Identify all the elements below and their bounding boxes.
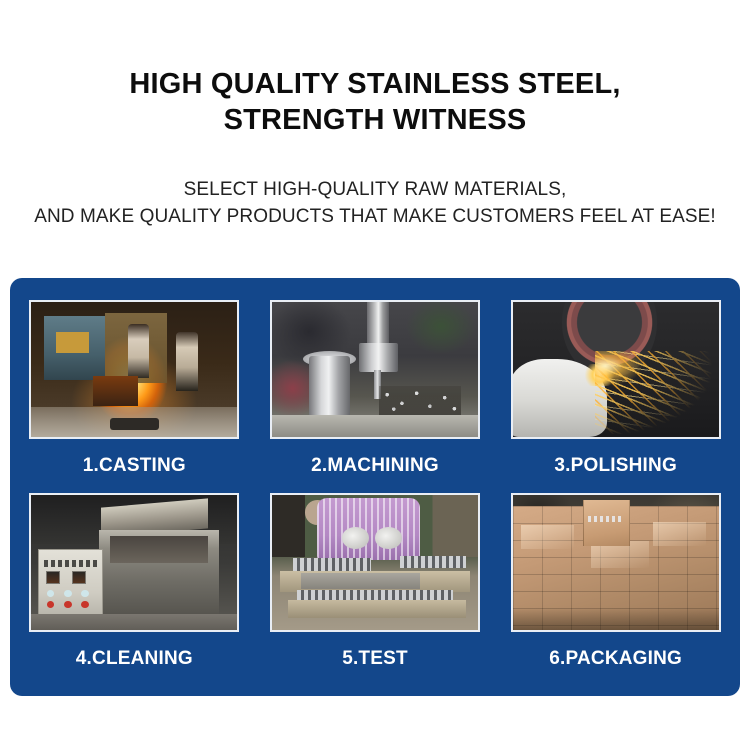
polishing-photo — [513, 302, 719, 437]
polishing-photo-frame — [511, 300, 721, 439]
foundry-scoop-shape — [110, 418, 159, 430]
cabinet-knob-6-shape — [81, 601, 89, 608]
cleaning-photo-frame — [29, 493, 239, 632]
packaging-photo-frame — [511, 493, 721, 632]
test-slab-shape — [301, 573, 420, 589]
carton-shadow-shape — [513, 608, 719, 630]
cabinet-label-shape — [44, 560, 98, 567]
cabinet-knob-4-shape — [47, 601, 55, 608]
cabinet-knob-3-shape — [81, 590, 89, 597]
carton-logo-shape — [588, 516, 623, 522]
metal-chips-shape — [379, 386, 461, 416]
product-detail-page: HIGH QUALITY STAINLESS STEEL, STRENGTH W… — [0, 0, 750, 750]
tank-basin-shape — [110, 536, 209, 563]
cleaning-photo — [31, 495, 237, 630]
process-grid: 1.CASTING 2.MACHINING — [27, 300, 723, 678]
carton-highlight-3-shape — [653, 522, 707, 546]
inspector-glove-right-shape — [375, 527, 402, 549]
drill-spindle-shape — [367, 302, 390, 348]
header-section: HIGH QUALITY STAINLESS STEEL, STRENGTH W… — [0, 0, 750, 230]
page-title-line-1: HIGH QUALITY STAINLESS STEEL, — [129, 68, 620, 100]
workpiece-shape — [309, 356, 350, 418]
page-title-line-2: STRENGTH WITNESS — [0, 102, 750, 138]
page-subtitle: SELECT HIGH-QUALITY RAW MATERIALS, AND M… — [0, 138, 750, 230]
machining-photo-frame — [270, 300, 480, 439]
furnace-panel-shape — [56, 332, 89, 354]
process-step-6: 6.PACKAGING — [508, 493, 723, 678]
casting-photo-frame — [29, 300, 239, 439]
test-photo-frame — [270, 493, 480, 632]
cleaning-floor-shape — [31, 614, 237, 630]
cabinet-knob-5-shape — [64, 601, 72, 608]
cabinet-display-2-shape — [72, 571, 86, 584]
process-step-4: 4.CLEANING — [27, 493, 242, 678]
sparks-shape — [595, 351, 719, 435]
process-step-2: 2.MACHINING — [268, 300, 483, 485]
process-step-4-label: 4.CLEANING — [76, 648, 193, 670]
cabinet-knob-1-shape — [47, 590, 55, 597]
test-parts-row-1-shape — [293, 558, 371, 570]
cabinet-display-1-shape — [46, 571, 60, 584]
molten-ladle-shape — [93, 376, 138, 406]
page-subtitle-line-2: AND MAKE QUALITY PRODUCTS THAT MAKE CUST… — [0, 203, 750, 230]
control-cabinet-shape — [38, 549, 104, 622]
process-step-5-label: 5.TEST — [342, 648, 408, 670]
test-photo — [272, 495, 478, 630]
machine-bench-shape — [272, 415, 478, 437]
foundry-worker-2-shape — [176, 332, 199, 391]
process-step-1: 1.CASTING — [27, 300, 242, 485]
drill-chuck-shape — [359, 343, 398, 373]
process-step-5: 5.TEST — [268, 493, 483, 678]
process-step-1-label: 1.CASTING — [83, 455, 186, 477]
process-step-3: 3.POLISHING — [508, 300, 723, 485]
machining-photo — [272, 302, 478, 437]
page-subtitle-line-1: SELECT HIGH-QUALITY RAW MATERIALS, — [184, 179, 567, 200]
process-step-2-label: 2.MACHINING — [311, 455, 439, 477]
test-parts-row-2-shape — [400, 556, 466, 568]
carton-highlight-1-shape — [521, 525, 575, 549]
process-panel: 1.CASTING 2.MACHINING — [10, 278, 740, 696]
packaging-photo — [513, 495, 719, 630]
casting-photo — [31, 302, 237, 437]
page-title: HIGH QUALITY STAINLESS STEEL, STRENGTH W… — [0, 0, 750, 138]
inspector-glove-left-shape — [342, 527, 369, 549]
process-step-3-label: 3.POLISHING — [554, 455, 677, 477]
inspector-shirt-shape — [317, 498, 420, 560]
cabinet-knob-2-shape — [64, 590, 72, 597]
upright-carton-shape — [583, 500, 630, 546]
foundry-worker-1-shape — [128, 324, 149, 378]
process-step-6-label: 6.PACKAGING — [549, 648, 682, 670]
test-bench-lower-shape — [288, 600, 465, 618]
